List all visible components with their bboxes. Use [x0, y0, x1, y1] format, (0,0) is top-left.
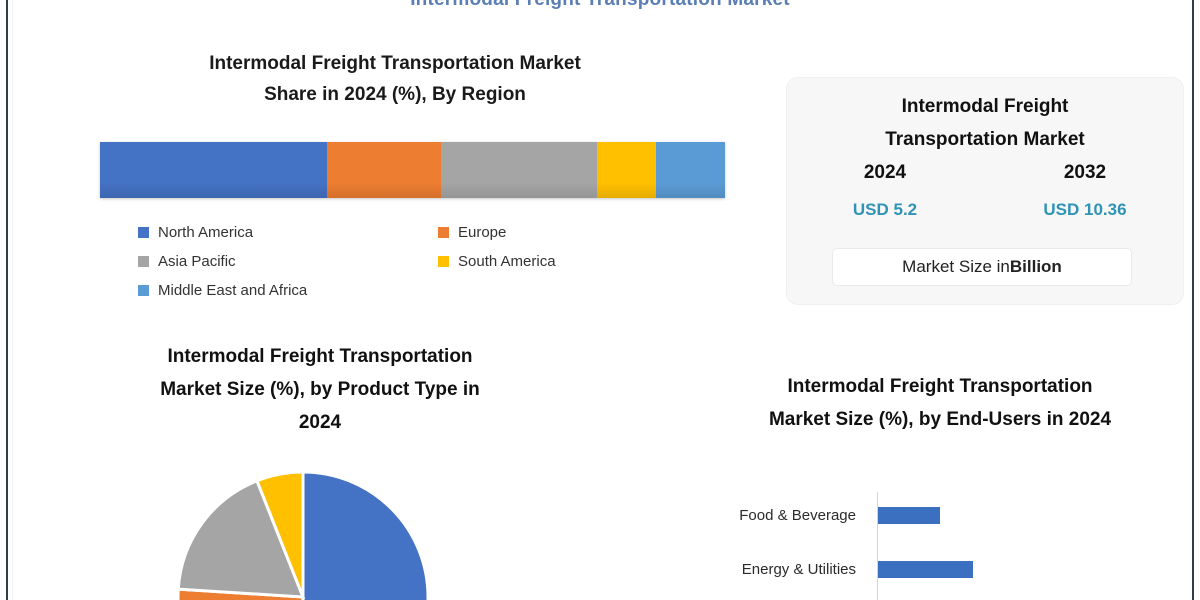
- stacked-bar-segment-middle-east-and-africa: [656, 142, 725, 198]
- frame-border-right: [1192, 0, 1194, 600]
- legend-item-label: Middle East and Africa: [158, 282, 307, 299]
- legend-swatch-icon: [438, 256, 449, 267]
- pie-slice-1: [303, 472, 428, 600]
- market-size-years: 2024 USD 5.2 2032 USD 10.36: [805, 162, 1165, 220]
- frame-border-left: [6, 0, 8, 600]
- product-title-line-2: Market Size (%), by Product Type in: [85, 373, 555, 406]
- region-stacked-bar-chart: [100, 142, 725, 198]
- region-title-line-1: Intermodal Freight Transportation Market: [75, 48, 715, 79]
- stacked-bar-segment-south-america: [597, 142, 656, 198]
- region-legend: North AmericaEuropeAsia PacificSouth Ame…: [138, 218, 618, 305]
- stacked-bar-segment-north-america: [100, 142, 327, 198]
- product-type-pie-chart: [178, 447, 428, 600]
- legend-item-label: Europe: [458, 224, 506, 241]
- panel-title-line-1: Intermodal Freight: [807, 90, 1163, 123]
- legend-item-europe: Europe: [438, 224, 618, 241]
- year-2024-label: 2024: [805, 162, 965, 184]
- enduser-section-title: Intermodal Freight Transportation Market…: [700, 370, 1180, 436]
- legend-item-asia-pacific: Asia Pacific: [138, 253, 438, 270]
- market-size-unit-bold: Billion: [1010, 257, 1062, 277]
- enduser-title-line-2: Market Size (%), by End-Users in 2024: [700, 403, 1180, 436]
- panel-title-line-2: Transportation Market: [807, 123, 1163, 156]
- market-size-panel-title: Intermodal Freight Transportation Market: [807, 90, 1163, 156]
- enduser-category-label: Food & Beverage: [690, 507, 870, 524]
- infographic-canvas: Intermodal Freight Transportation Market…: [0, 0, 1200, 600]
- legend-swatch-icon: [138, 256, 149, 267]
- legend-swatch-icon: [138, 285, 149, 296]
- region-title-line-2: Share in 2024 (%), By Region: [75, 79, 715, 110]
- legend-item-label: South America: [458, 253, 556, 270]
- legend-item-south-america: South America: [438, 253, 618, 270]
- year-2024-value: USD 5.2: [805, 200, 965, 220]
- legend-item-label: North America: [158, 224, 253, 241]
- pie-svg: [178, 447, 428, 600]
- enduser-category-label: Energy & Utilities: [690, 561, 870, 578]
- enduser-bar-chart: Food & BeverageEnergy & Utilities: [690, 492, 1160, 600]
- region-section-title: Intermodal Freight Transportation Market…: [75, 48, 715, 110]
- enduser-bar: [878, 561, 973, 578]
- market-size-unit-box: Market Size in Billion: [832, 248, 1132, 286]
- legend-item-north-america: North America: [138, 224, 438, 241]
- market-size-unit-prefix: Market Size in: [902, 257, 1010, 277]
- enduser-title-line-1: Intermodal Freight Transportation: [700, 370, 1180, 403]
- stacked-bar-segment-europe: [327, 142, 441, 198]
- market-size-panel: Intermodal Freight Transportation Market…: [787, 78, 1183, 304]
- legend-swatch-icon: [138, 227, 149, 238]
- legend-item-middle-east-and-africa: Middle East and Africa: [138, 282, 438, 299]
- product-section-title: Intermodal Freight Transportation Market…: [85, 340, 555, 439]
- enduser-bar: [878, 507, 940, 524]
- year-2032-label: 2032: [1005, 162, 1165, 184]
- enduser-row-energy-utilities: Energy & Utilities: [690, 560, 1160, 578]
- legend-item-label: Asia Pacific: [158, 253, 236, 270]
- enduser-row-food-beverage: Food & Beverage: [690, 506, 1160, 524]
- master-title: Intermodal Freight Transportation Market: [0, 0, 1200, 11]
- frame-border-left-inner: [12, 0, 13, 600]
- product-title-line-3: 2024: [85, 406, 555, 439]
- product-title-line-1: Intermodal Freight Transportation: [85, 340, 555, 373]
- year-2032-value: USD 10.36: [1005, 200, 1165, 220]
- market-size-year-2032: 2032 USD 10.36: [1005, 162, 1165, 220]
- legend-swatch-icon: [438, 227, 449, 238]
- market-size-year-2024: 2024 USD 5.2: [805, 162, 965, 220]
- stacked-bar-segment-asia-pacific: [441, 142, 597, 198]
